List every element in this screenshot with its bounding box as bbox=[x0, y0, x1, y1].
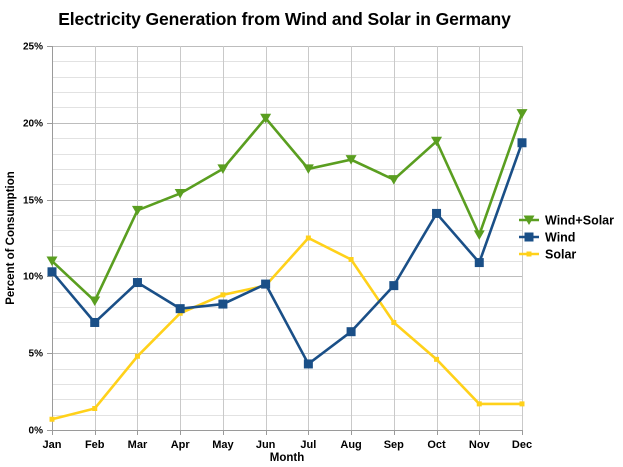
y-axis-tick-label: 25% bbox=[23, 42, 43, 53]
x-axis-tick-label: Nov bbox=[469, 439, 491, 451]
data-point-marker bbox=[349, 257, 354, 262]
data-point-marker bbox=[389, 281, 398, 290]
legend-label: Wind+Solar bbox=[545, 214, 614, 228]
data-point-marker bbox=[135, 354, 140, 359]
x-axis-tick-label: Jun bbox=[256, 439, 276, 451]
legend-item-wind[interactable]: Wind bbox=[519, 231, 575, 245]
data-point-marker bbox=[89, 296, 100, 306]
data-series-group bbox=[47, 109, 528, 422]
data-point-marker bbox=[518, 138, 527, 147]
x-axis-tick-label: Jul bbox=[300, 439, 316, 451]
data-point-marker bbox=[220, 292, 225, 297]
data-point-marker bbox=[391, 320, 396, 325]
y-axis-tick-label: 10% bbox=[23, 272, 43, 283]
series-wind bbox=[48, 138, 527, 368]
data-point-marker bbox=[133, 278, 142, 287]
data-point-marker bbox=[50, 417, 55, 422]
legend-item-wind-plus-solar[interactable]: Wind+Solar bbox=[519, 214, 614, 228]
data-point-marker bbox=[432, 209, 441, 218]
x-axis-tick-label: Mar bbox=[128, 439, 148, 451]
y-axis-tick-label: 0% bbox=[29, 426, 44, 437]
x-axis-tick-label: Dec bbox=[512, 439, 532, 451]
y-axis-tick-labels: 0%5%10%15%20%25% bbox=[23, 42, 43, 437]
x-axis-tick-label: Jan bbox=[43, 439, 62, 451]
data-point-marker bbox=[527, 252, 532, 257]
y-axis-tick-label: 20% bbox=[23, 119, 43, 130]
y-axis-title: Percent of Consumption bbox=[5, 171, 17, 305]
data-point-marker bbox=[525, 233, 534, 242]
x-axis-tick-label: Feb bbox=[85, 439, 105, 451]
x-axis-tick-labels: JanFebMarAprMayJunJulAugSepOctNovDec bbox=[43, 439, 533, 451]
legend-label: Solar bbox=[545, 248, 576, 262]
x-axis-tick-label: Aug bbox=[340, 439, 361, 451]
data-point-marker bbox=[475, 258, 484, 267]
chart-legend: Wind+SolarWindSolar bbox=[519, 214, 614, 262]
x-axis-tick-label: Sep bbox=[384, 439, 404, 451]
data-point-marker bbox=[48, 267, 57, 276]
data-point-marker bbox=[176, 304, 185, 313]
minor-gridlines bbox=[52, 62, 522, 416]
data-point-marker bbox=[520, 401, 525, 406]
axis-lines bbox=[47, 46, 523, 435]
data-point-marker bbox=[347, 327, 356, 336]
data-point-marker bbox=[261, 280, 270, 289]
legend-label: Wind bbox=[545, 231, 575, 245]
data-point-marker bbox=[218, 300, 227, 309]
x-axis-title: Month bbox=[270, 452, 304, 464]
data-point-marker bbox=[92, 406, 97, 411]
series-solar bbox=[50, 236, 525, 422]
y-axis-tick-label: 15% bbox=[23, 196, 43, 207]
chart-container: Electricity Generation from Wind and Sol… bbox=[0, 0, 623, 467]
data-point-marker bbox=[434, 357, 439, 362]
legend-item-solar[interactable]: Solar bbox=[519, 248, 576, 262]
data-point-marker bbox=[306, 236, 311, 241]
data-point-marker bbox=[477, 401, 482, 406]
x-axis-tick-label: Oct bbox=[427, 439, 446, 451]
chart-plot-area: 0%5%10%15%20%25% JanFebMarAprMayJunJulAu… bbox=[0, 0, 623, 467]
data-point-marker bbox=[304, 359, 313, 368]
data-point-marker bbox=[90, 318, 99, 327]
data-point-marker bbox=[517, 109, 528, 119]
data-point-marker bbox=[132, 206, 143, 216]
x-axis-tick-label: Apr bbox=[171, 439, 191, 451]
x-axis-tick-label: May bbox=[212, 439, 234, 451]
data-point-marker bbox=[474, 230, 485, 240]
y-axis-tick-label: 5% bbox=[29, 349, 44, 360]
data-point-marker bbox=[388, 175, 399, 185]
